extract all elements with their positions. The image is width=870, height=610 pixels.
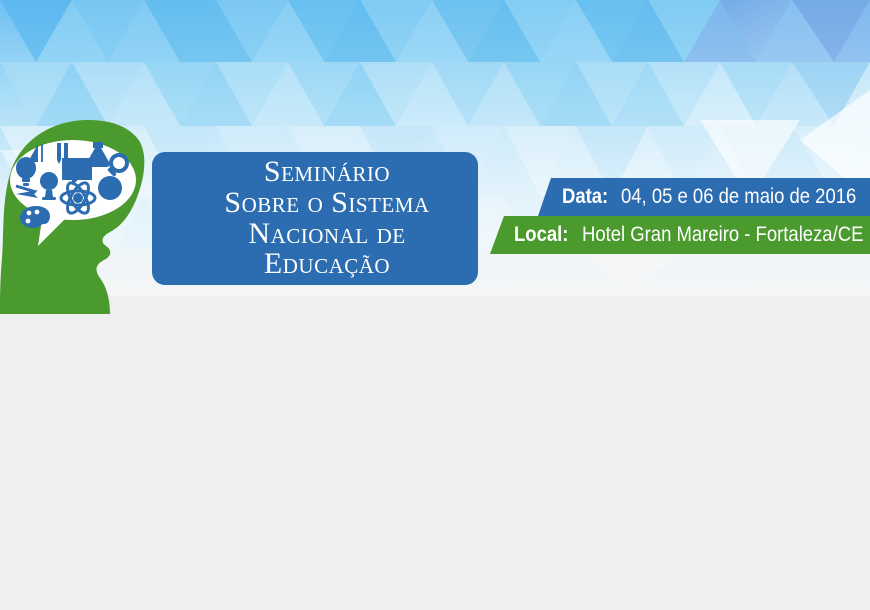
event-title-plaque: Seminário Sobre o Sistema Nacional de Ed… bbox=[152, 152, 478, 285]
title-line-4: Educação bbox=[264, 249, 390, 280]
event-banner: Seminário Sobre o Sistema Nacional de Ed… bbox=[0, 0, 870, 318]
page-content-area bbox=[0, 318, 870, 610]
title-line-2: Sobre o Sistema bbox=[224, 188, 429, 219]
globe-icon bbox=[98, 176, 122, 200]
event-info-bars: Data: 04, 05 e 06 de maio de 2016 Local:… bbox=[490, 178, 870, 258]
logo-head-graphic bbox=[0, 118, 200, 318]
place-value: Hotel Gran Mareiro - Fortaleza/CE bbox=[582, 223, 863, 247]
title-line-1: Seminário bbox=[264, 157, 390, 188]
event-title: Seminário Sobre o Sistema Nacional de Ed… bbox=[152, 152, 478, 285]
page-root: Seminário Sobre o Sistema Nacional de Ed… bbox=[0, 0, 870, 610]
event-date-bar: Data: 04, 05 e 06 de maio de 2016 bbox=[538, 178, 870, 216]
event-place-bar: Local: Hotel Gran Mareiro - Fortaleza/CE bbox=[490, 216, 870, 254]
head-silhouette-svg bbox=[0, 118, 200, 318]
title-line-3: Nacional de bbox=[248, 219, 405, 250]
date-value: 04, 05 e 06 de maio de 2016 bbox=[621, 185, 856, 209]
date-label: Data: bbox=[562, 185, 608, 209]
place-label: Local: bbox=[514, 223, 568, 247]
